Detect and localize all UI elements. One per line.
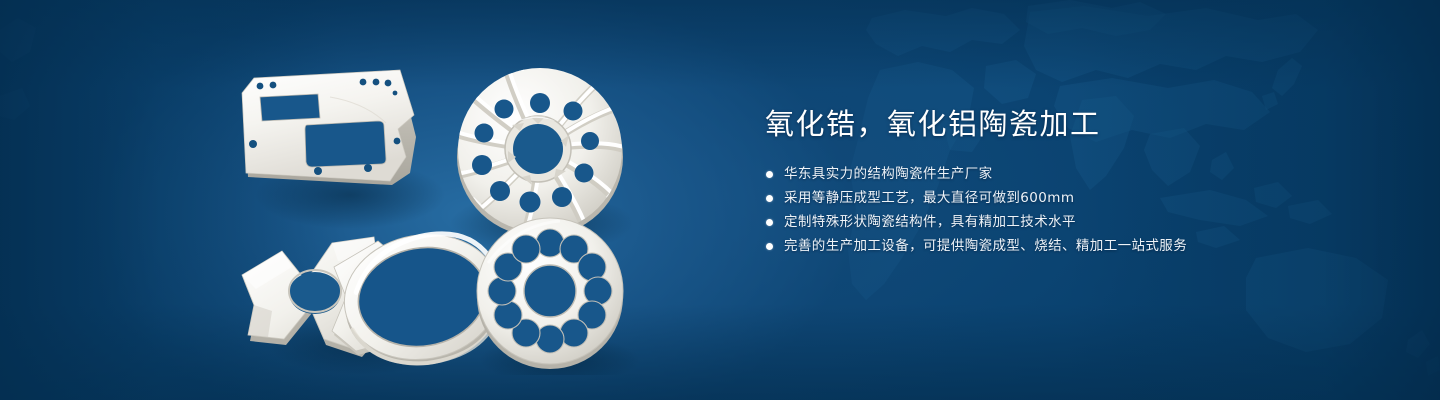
hero-banner: 氧化锆，氧化铝陶瓷加工 华东具实力的结构陶瓷件生产厂家 采用等静压成型工艺，最大…: [0, 0, 1440, 400]
product-ceramic-perforated-disc: [477, 218, 623, 369]
feature-text: 采用等静压成型工艺，最大直径可做到600mm: [784, 186, 1074, 210]
list-item: 采用等静压成型工艺，最大直径可做到600mm: [762, 186, 1362, 210]
list-item: 华东具实力的结构陶瓷件生产厂家: [762, 162, 1362, 186]
page-title: 氧化锆，氧化铝陶瓷加工: [765, 104, 1362, 144]
feature-text: 华东具实力的结构陶瓷件生产厂家: [784, 162, 993, 186]
list-item: 定制特殊形状陶瓷结构件，具有精加工技术水平: [762, 210, 1362, 234]
bullet-dot-icon: [766, 219, 773, 226]
feature-list: 华东具实力的结构陶瓷件生产厂家 采用等静压成型工艺，最大直径可做到600mm 定…: [762, 162, 1362, 258]
bullet-dot-icon: [766, 243, 773, 250]
product-ceramic-mounting-plate: [242, 70, 416, 185]
bullet-dot-icon: [766, 171, 773, 178]
bullet-dot-icon: [766, 195, 773, 202]
feature-text: 完善的生产加工设备，可提供陶瓷成型、烧结、精加工一站式服务: [784, 234, 1187, 258]
banner-copy-block: 氧化锆，氧化铝陶瓷加工 华东具实力的结构陶瓷件生产厂家 采用等静压成型工艺，最大…: [762, 104, 1362, 258]
feature-text: 定制特殊形状陶瓷结构件，具有精加工技术水平: [784, 210, 1076, 234]
list-item: 完善的生产加工设备，可提供陶瓷成型、烧结、精加工一站式服务: [762, 234, 1362, 258]
product-showcase-image: [230, 45, 690, 375]
